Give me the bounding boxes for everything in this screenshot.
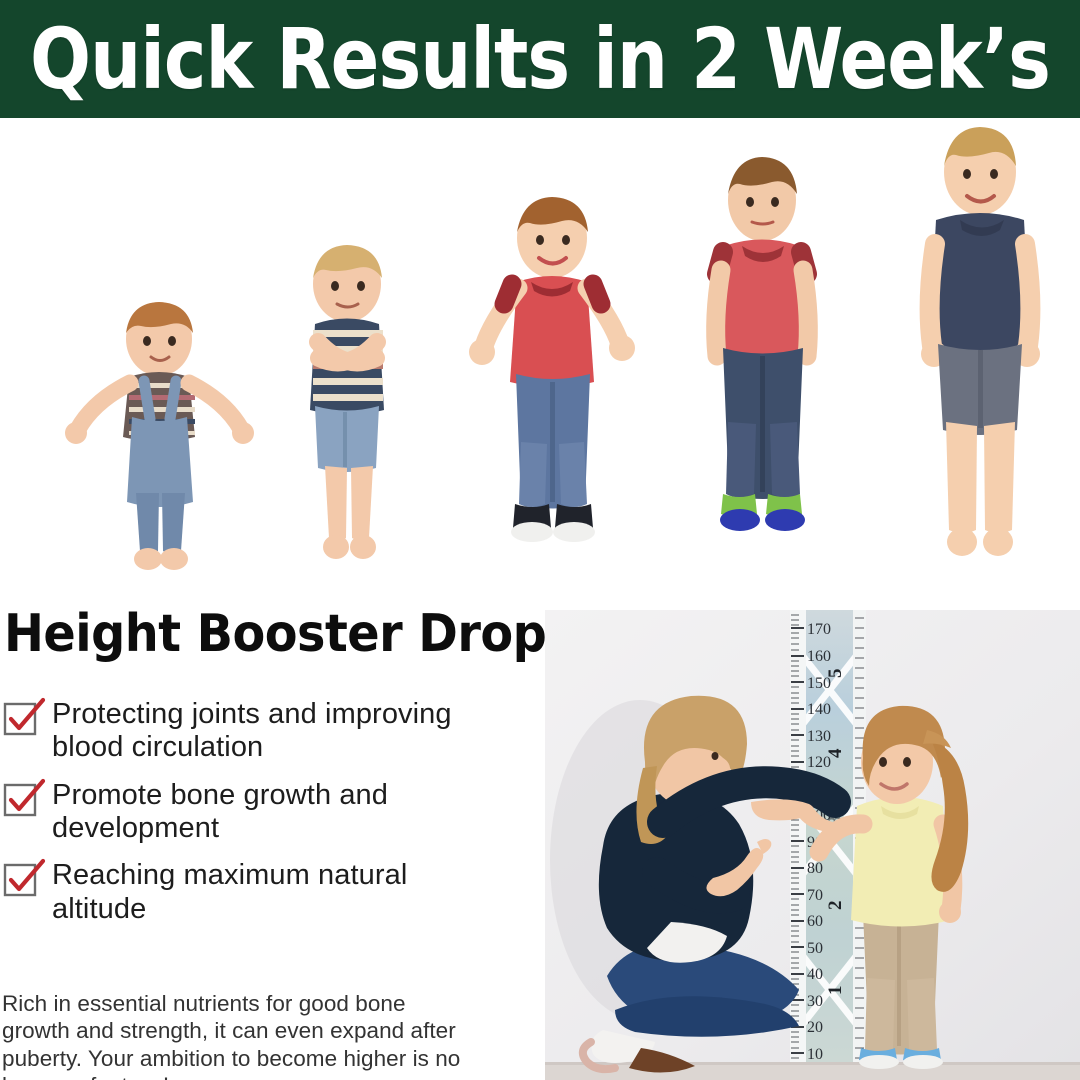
mother-measuring-girl-height-photo: 170 160 150 140 130 120 110 100 90 80 70… <box>545 610 1080 1080</box>
list-item: Reaching maximum natural altitude <box>4 859 504 926</box>
ruler-label-feet: 4 <box>825 748 846 758</box>
ruler-label-cm: 70 <box>807 887 823 904</box>
benefit-text: Reaching maximum natural altitude <box>52 859 492 926</box>
checkbox-checked-icon <box>4 704 36 736</box>
child-figure-4 <box>690 152 835 572</box>
children-growth-row <box>0 118 1080 590</box>
ruler-label-cm: 20 <box>807 1019 823 1036</box>
banner-title: Quick Results in 2 Week’s <box>27 0 1053 118</box>
child-figure-2 <box>285 242 410 572</box>
ruler-label-feet: 1 <box>825 986 846 996</box>
ruler-label-cm: 130 <box>807 728 831 745</box>
ruler-label-cm: 50 <box>807 940 823 957</box>
page-title: Height Booster Drops <box>4 608 574 660</box>
child-figure-5 <box>910 122 1050 572</box>
ruler-label-feet: 5 <box>825 669 846 679</box>
ruler-label-cm: 40 <box>807 966 823 983</box>
benefits-list: Protecting joints and improving blood ci… <box>4 698 504 940</box>
product-info-panel: Height Booster Drops Protecting joints a… <box>0 590 540 1080</box>
poster-root: Quick Results in 2 Week’s <box>0 0 1080 1080</box>
ruler-label-cm: 170 <box>807 621 831 638</box>
benefit-text: Protecting joints and improving blood ci… <box>52 698 492 765</box>
ruler-label-cm: 140 <box>807 701 831 718</box>
ruler-label-cm: 80 <box>807 860 823 877</box>
list-item: Protecting joints and improving blood ci… <box>4 698 504 765</box>
description-paragraph: Rich in essential nutrients for good bon… <box>2 990 472 1080</box>
checkbox-checked-icon <box>4 785 36 817</box>
ruler-label-cm: 10 <box>807 1046 823 1063</box>
list-item: Promote bone growth and development <box>4 779 504 846</box>
ruler-label-feet: 2 <box>825 901 846 911</box>
child-figure-1 <box>52 297 267 572</box>
child-figure-3 <box>455 192 650 572</box>
header-banner: Quick Results in 2 Week’s <box>0 0 1080 118</box>
ruler-label-cm: 60 <box>807 913 823 930</box>
benefit-text: Promote bone growth and development <box>52 779 492 846</box>
checkbox-checked-icon <box>4 865 36 897</box>
ruler-label-cm: 30 <box>807 993 823 1010</box>
ruler-label-cm: 160 <box>807 648 831 665</box>
